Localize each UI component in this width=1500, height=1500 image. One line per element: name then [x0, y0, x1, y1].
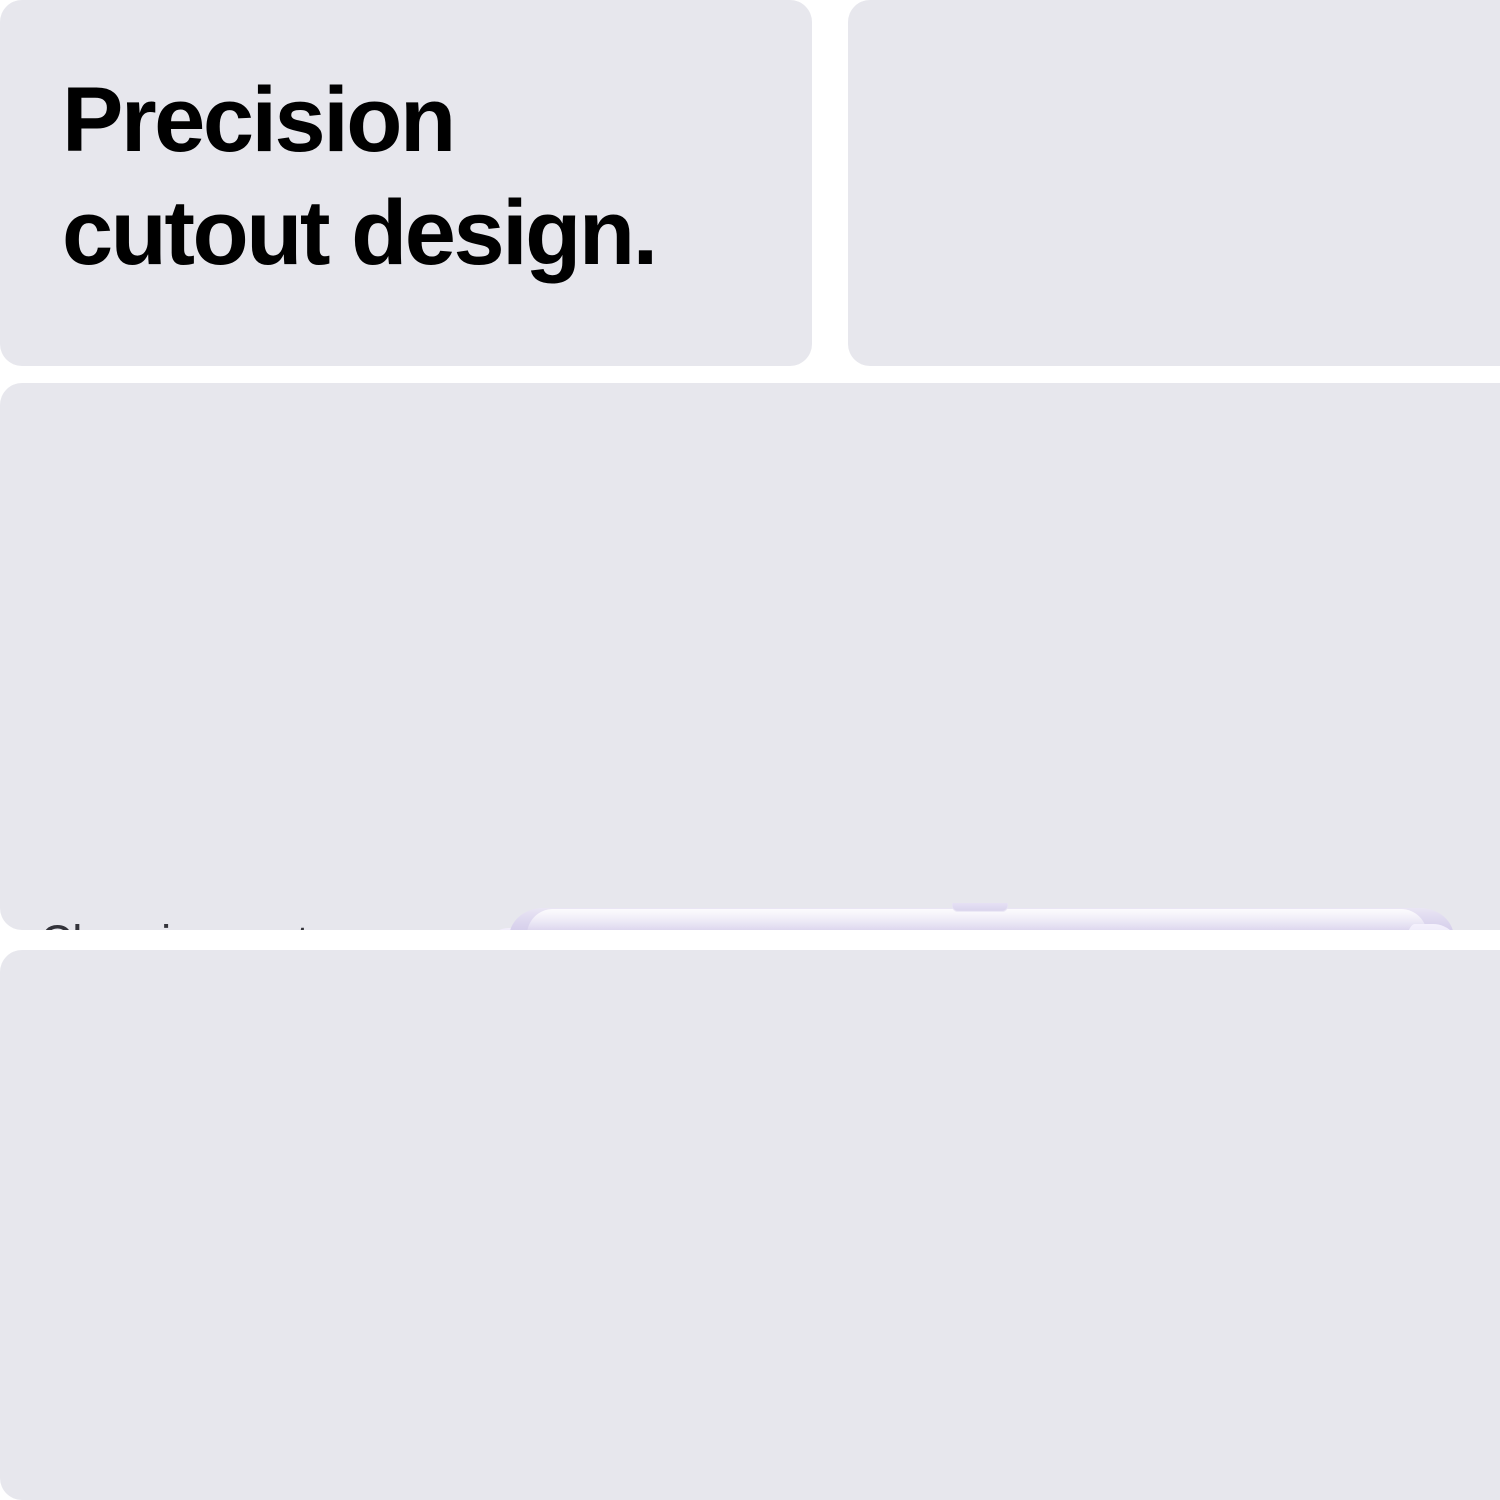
headline-line-1: Precision	[62, 64, 792, 177]
cutouts-card: Charging port Touch ID	[0, 383, 1500, 930]
back-view-card	[0, 950, 1500, 1500]
case-top-sheen	[527, 909, 1427, 930]
headline-line-2: cutout design.	[62, 177, 792, 290]
subtitle-card: Precise cutouts enable easy accessibilit…	[848, 0, 1500, 366]
title-card: Precision cutout design.	[0, 0, 812, 366]
product-feature-sheet: Precision cutout design. Precise cutouts…	[0, 0, 1500, 1500]
feature-label-charging-port: Charging port	[40, 916, 309, 930]
case-port-relief-bump	[952, 903, 1008, 912]
page-title: Precision cutout design.	[62, 64, 792, 290]
